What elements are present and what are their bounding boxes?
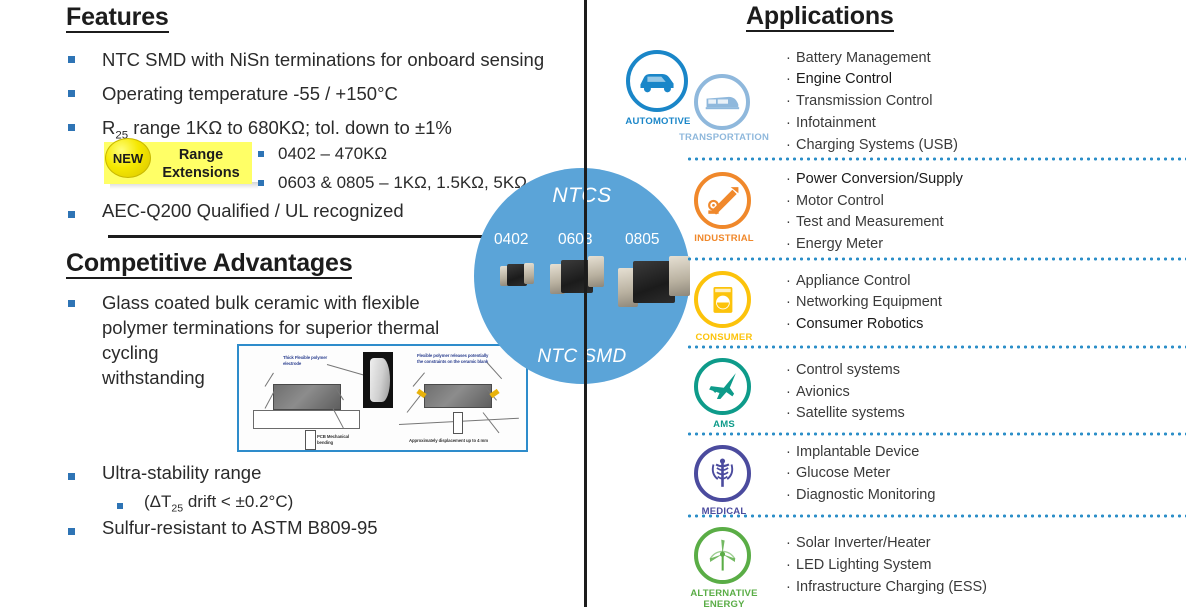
app-item-label: Infotainment [796,115,876,131]
app-bullet-dot: · [786,137,796,153]
app-item-avionics: ·Avionics [786,384,850,400]
alternative-energy-icon-label: ALTERNATIVE ENERGY [670,589,778,607]
app-item-label: LED Lighting System [796,557,931,573]
range-extension-label-line2: Extensions [152,164,250,182]
app-item-solar-inverter: ·Solar Inverter/Heater [786,535,931,551]
features-heading: Features [66,4,169,33]
new-badge: NEW [105,138,151,178]
app-item-appliance-control: ·Appliance Control [786,273,910,289]
app-bullet-dot: · [786,362,796,378]
diagram-callout-1: Thick Flexible polymer electrode [283,355,329,367]
ca-item-3-post: drift < ±0.2°C) [183,492,293,511]
ca-bullet-marker-2 [68,473,75,480]
car-icon [630,54,684,108]
app-item-label: Engine Control [796,71,892,87]
alternative-energy-label-line2: ENERGY [670,600,778,607]
range-extension-item-1: 0402 – 470KΩ [278,143,387,165]
transportation-icon-circle[interactable] [694,74,750,130]
ntcs-circle-subtitle: NTC SMD [474,346,690,368]
range-extension-label: Range Extensions [152,146,250,182]
features-heading-wrap: Features [66,4,169,33]
ca-item-1-line-3: cycling [102,341,159,365]
app-bullet-dot: · [786,557,796,573]
diagram-termination-right-4 [483,412,500,433]
competitive-advantages-heading-wrap: Competitive Advantages [66,250,352,279]
app-item-label: Charging Systems (USB) [796,137,958,153]
ca-bullet-marker-1 [68,300,75,307]
competitive-advantages-heading: Competitive Advantages [66,250,352,279]
app-bullet-dot: · [786,115,796,131]
app-item-power-conversion: ·Power Conversion/Supply [786,171,963,187]
app-item-label: Test and Measurement [796,214,944,230]
app-item-label: Battery Management [796,50,931,66]
applications-heading-wrap: Applications [746,3,894,32]
vertical-divider [584,0,587,607]
diagram-caption-left: PCB Mechanical bending [317,434,363,446]
applications-separator-5 [686,514,1186,518]
app-bullet-dot: · [786,236,796,252]
automotive-icon-circle[interactable] [626,50,688,112]
app-bullet-dot: · [786,487,796,503]
app-item-label: Motor Control [796,193,884,209]
ca-item-1-line-2: polymer terminations for superior therma… [102,316,439,340]
app-item-implantable-device: ·Implantable Device [786,444,919,460]
train-icon [698,78,746,126]
app-bullet-dot: · [786,405,796,421]
features-item-1: NTC SMD with NiSn terminations for onboa… [102,48,544,72]
app-bullet-dot: · [786,535,796,551]
range-extension-label-line1: Range [152,146,250,164]
app-item-glucose-meter: ·Glucose Meter [786,465,890,481]
app-item-label: Control systems [796,362,900,378]
app-item-battery-management: ·Battery Management [786,50,931,66]
diagram-arrow-up-left [305,430,316,450]
features-bullet-marker-2 [68,90,75,97]
features-bullet-marker-3 [68,124,75,131]
diagram-photo [363,352,393,408]
app-item-led-lighting: ·LED Lighting System [786,557,931,573]
app-item-energy-meter: ·Energy Meter [786,236,883,252]
size-label-0805: 0805 [625,231,659,249]
slide-root: Features NTC SMD with NiSn terminations … [0,0,1188,607]
features-item-3-post: range 1KΩ to 680KΩ; tol. down to ±1% [128,117,452,138]
caduceus-icon [698,449,747,498]
features-bullet-marker-4 [68,211,75,218]
app-item-diagnostic-monitoring: ·Diagnostic Monitoring [786,487,935,503]
app-bullet-dot: · [786,316,796,332]
app-item-infrastructure-charging: ·Infrastructure Charging (ESS) [786,579,987,595]
automotive-icon-label: AUTOMOTIVE [618,117,698,128]
app-item-test-measurement: ·Test and Measurement [786,214,944,230]
ca-item-2: Ultra-stability range [102,461,261,485]
size-label-0402: 0402 [494,231,528,249]
app-bullet-dot: · [786,71,796,87]
smd-part-0402 [500,262,534,288]
app-bullet-dot: · [786,294,796,310]
ams-icon-label: AMS [678,420,770,431]
app-item-satellite-systems: ·Satellite systems [786,405,905,421]
smd-0603-cap-right [588,256,604,287]
smd-0402-cap-right [524,263,534,284]
app-item-label: Implantable Device [796,444,919,460]
app-item-transmission-control: ·Transmission Control [786,93,932,109]
diagram-displacement-arrow [453,412,463,434]
app-item-label: Diagnostic Monitoring [796,487,935,503]
ca-bullet-marker-3 [117,503,123,509]
app-item-label: Solar Inverter/Heater [796,535,931,551]
app-item-consumer-robotics: ·Consumer Robotics [786,316,923,332]
app-bullet-dot: · [786,579,796,595]
app-bullet-dot: · [786,444,796,460]
consumer-icon-label: CONSUMER [678,333,770,344]
applications-heading: Applications [746,3,894,32]
smd-part-0603 [550,256,604,296]
smd-0805-cap-right [669,256,690,296]
ntcs-product-circle: NTCS NTC SMD 0402 0603 0805 [474,168,690,384]
alternative-energy-icon-circle[interactable] [694,527,751,584]
app-bullet-dot: · [786,214,796,230]
range-extension-bullet-marker-1 [258,151,264,157]
ca-item-1-line-1: Glass coated bulk ceramic with flexible [102,291,420,315]
applications-separator-3 [686,345,1186,349]
applications-separator-1 [686,157,1186,161]
app-item-label: Energy Meter [796,236,883,252]
app-item-label: Satellite systems [796,405,905,421]
app-item-label: Consumer Robotics [796,316,923,332]
features-item-3-pre: R [102,117,115,138]
app-bullet-dot: · [786,273,796,289]
app-bullet-dot: · [786,50,796,66]
industrial-icon-circle[interactable] [694,172,751,229]
ams-icon-circle[interactable] [694,358,751,415]
app-bullet-dot: · [786,193,796,209]
range-extension-bullet-marker-2 [258,180,264,186]
app-item-control-systems: ·Control systems [786,362,900,378]
section-divider [108,235,486,238]
diagram-chip-left [273,384,341,410]
applications-separator-4 [686,432,1186,436]
diagram-pcb-left [253,410,360,429]
robot-arm-icon [698,176,747,225]
app-bullet-dot: · [786,465,796,481]
app-item-networking-equipment: ·Networking Equipment [786,294,942,310]
medical-icon-circle[interactable] [694,445,751,502]
app-item-label: Appliance Control [796,273,910,289]
app-item-label: Power Conversion/Supply [796,171,963,187]
app-item-label: Avionics [796,384,850,400]
ca-item-4: Sulfur-resistant to ASTM B809-95 [102,516,378,540]
industrial-icon-label: INDUSTRIAL [678,234,770,245]
features-item-3: R25 range 1KΩ to 680KΩ; tol. down to ±1% [102,116,452,144]
ca-item-3-pre: (ΔT [144,492,171,511]
diagram-caption-right: Approximately displacement up to 4 mm [409,438,519,444]
app-item-label: Infrastructure Charging (ESS) [796,579,987,595]
applications-separator-2 [686,257,1186,261]
diagram-photo-chip [370,358,390,403]
app-item-label: Networking Equipment [796,294,942,310]
features-item-2: Operating temperature -55 / +150°C [102,82,398,106]
features-bullet-marker-1 [68,56,75,63]
washing-machine-icon [698,275,747,324]
ca-bullet-marker-4 [68,528,75,535]
wind-turbine-icon [698,531,747,580]
transportation-icon-label: TRANSPORTATION [672,133,776,144]
diagram-chip-right [424,384,492,408]
ca-item-1-line-4: withstanding [102,366,205,390]
app-item-label: Transmission Control [796,93,932,109]
aircraft-icon [698,362,747,411]
size-label-0603: 0603 [558,231,592,249]
app-item-charging-systems: ·Charging Systems (USB) [786,137,958,153]
app-bullet-dot: · [786,171,796,187]
ca-item-3-sub: 25 [171,502,183,514]
smd-part-0805 [618,256,690,308]
app-item-engine-control: ·Engine Control [786,71,892,87]
ntcs-circle-title: NTCS [474,184,690,208]
app-bullet-dot: · [786,384,796,400]
consumer-icon-circle[interactable] [694,271,751,328]
app-bullet-dot: · [786,93,796,109]
features-item-4: AEC-Q200 Qualified / UL recognized [102,199,404,223]
app-item-motor-control: ·Motor Control [786,193,884,209]
app-item-label: Glucose Meter [796,465,890,481]
ca-item-3: (ΔT25 drift < ±0.2°C) [144,491,293,516]
app-item-infotainment: ·Infotainment [786,115,876,131]
